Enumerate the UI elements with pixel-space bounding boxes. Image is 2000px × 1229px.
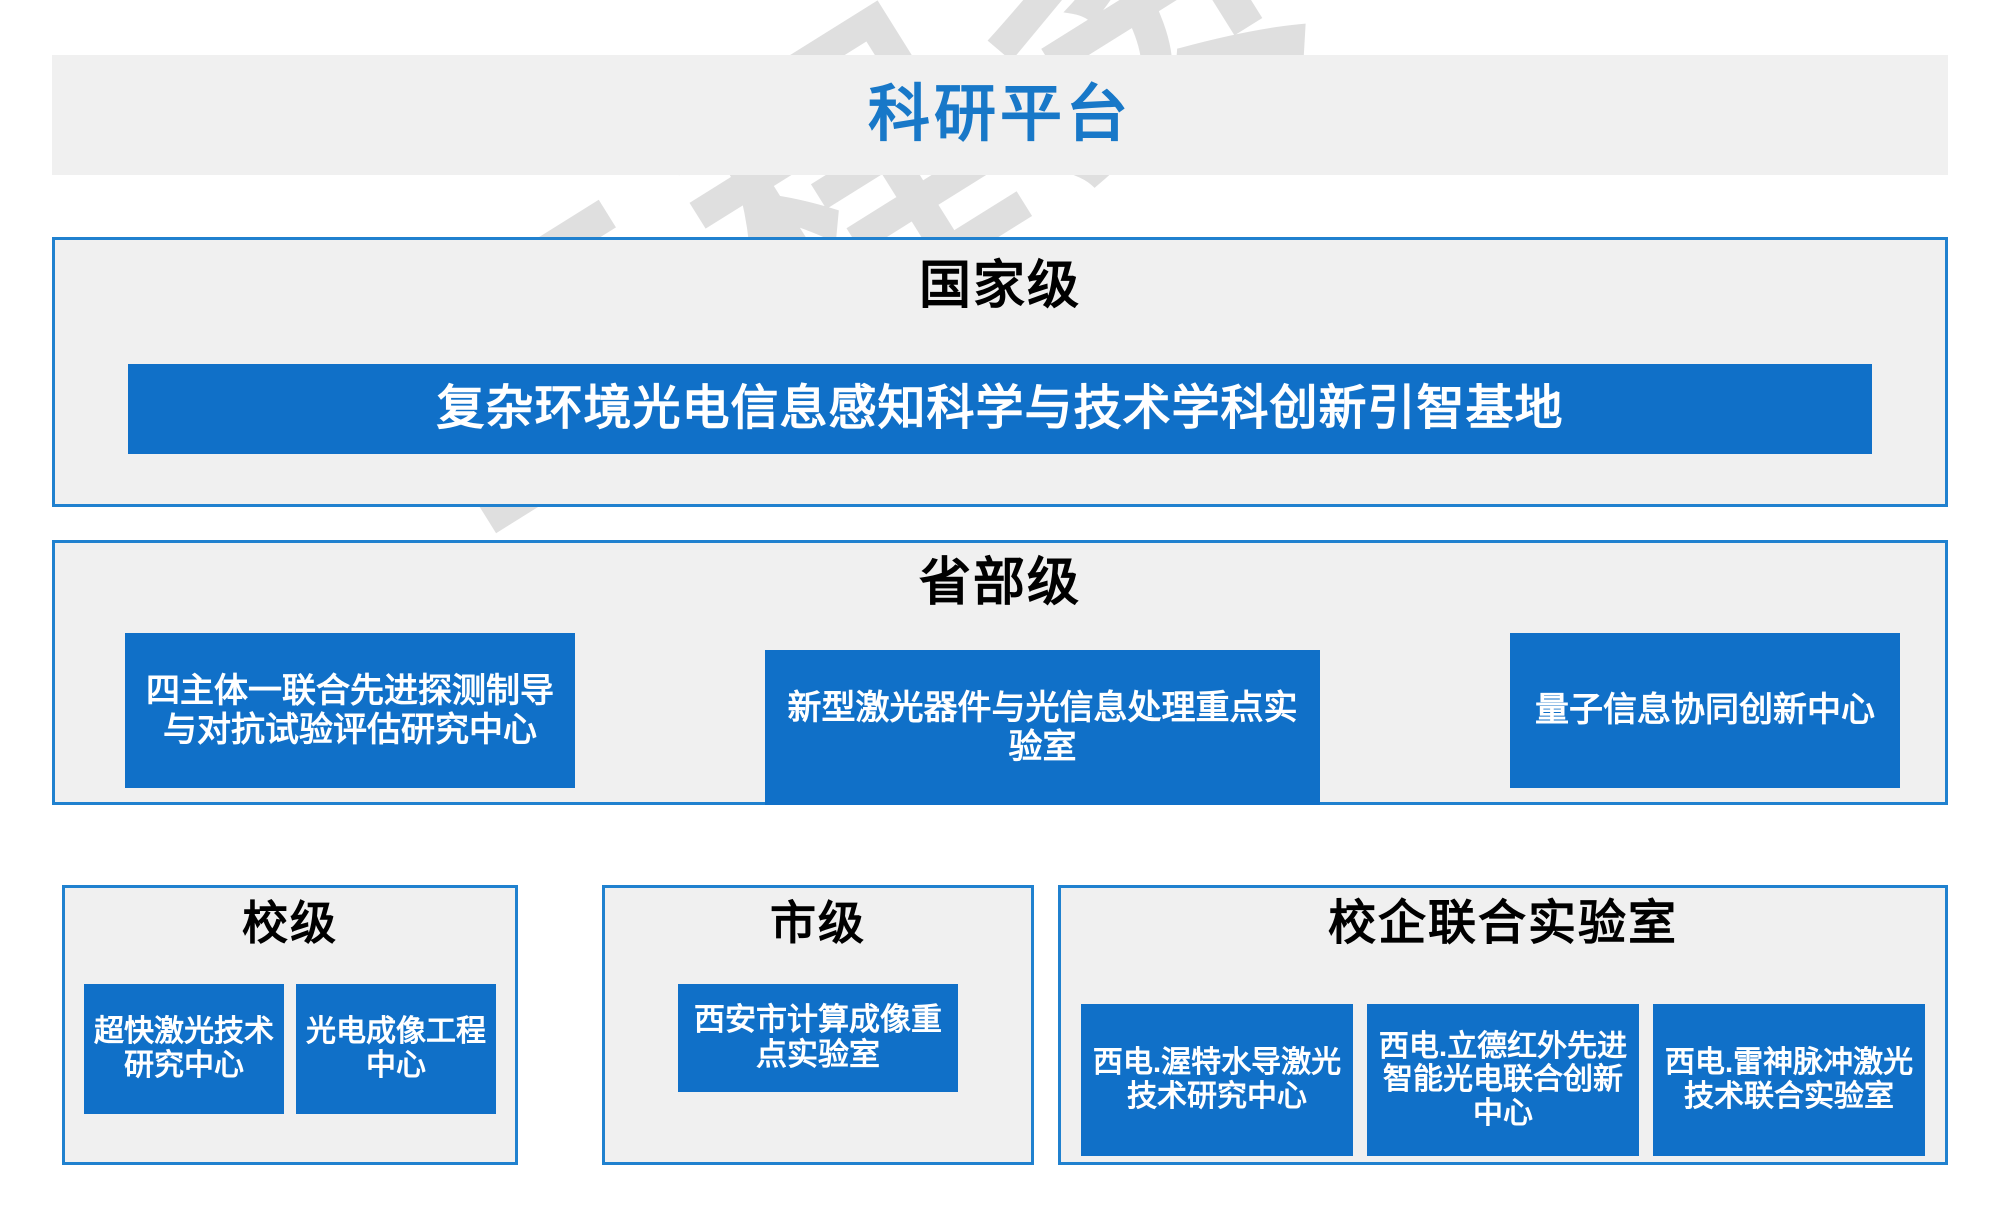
page-header-bar: 科研平台 [52, 55, 1948, 175]
level-title-city: 市级 [605, 900, 1031, 946]
platform-chip-provincial-2[interactable]: 量子信息协同创新中心 [1510, 633, 1900, 788]
chip-row-city: 西安市计算成像重点实验室 [605, 984, 1031, 1092]
research-platform-page: 科研平台 国家级 复杂环境光电信息感知科学与技术学科创新引智基地 省部级 四主体… [0, 0, 2000, 1229]
page-title: 科研平台 [868, 84, 1132, 146]
level-panel-school: 校级 超快激光技术研究中心 光电成像工程中心 [62, 885, 518, 1165]
level-panel-national: 国家级 复杂环境光电信息感知科学与技术学科创新引智基地 [52, 237, 1948, 507]
platform-chip-joint-1[interactable]: 西电.立德红外先进智能光电联合创新中心 [1367, 1004, 1639, 1156]
platform-chip-joint-2[interactable]: 西电.雷神脉冲激光技术联合实验室 [1653, 1004, 1925, 1156]
platform-chip-provincial-0[interactable]: 四主体一联合先进探测制导与对抗试验评估研究中心 [125, 633, 575, 788]
platform-chip-city-0[interactable]: 西安市计算成像重点实验室 [678, 984, 958, 1092]
platform-chip-joint-0[interactable]: 西电.渥特水导激光技术研究中心 [1081, 1004, 1353, 1156]
platform-chip-school-1[interactable]: 光电成像工程中心 [296, 984, 496, 1114]
chip-row-joint: 西电.渥特水导激光技术研究中心 西电.立德红外先进智能光电联合创新中心 西电.雷… [1061, 1004, 1945, 1156]
platform-chip-school-0[interactable]: 超快激光技术研究中心 [84, 984, 284, 1114]
level-panel-joint: 校企联合实验室 西电.渥特水导激光技术研究中心 西电.立德红外先进智能光电联合创… [1058, 885, 1948, 1165]
level-title-national: 国家级 [55, 260, 1945, 312]
level-panel-city: 市级 西安市计算成像重点实验室 [602, 885, 1034, 1165]
level-panel-provincial: 省部级 四主体一联合先进探测制导与对抗试验评估研究中心 新型激光器件与光信息处理… [52, 540, 1948, 805]
level-title-joint: 校企联合实验室 [1061, 900, 1945, 948]
platform-chip-provincial-1[interactable]: 新型激光器件与光信息处理重点实验室 [765, 650, 1320, 805]
level-title-provincial: 省部级 [55, 557, 1945, 609]
chip-row-school: 超快激光技术研究中心 光电成像工程中心 [65, 984, 515, 1114]
level-title-school: 校级 [65, 900, 515, 946]
platform-chip-national-0[interactable]: 复杂环境光电信息感知科学与技术学科创新引智基地 [128, 364, 1872, 454]
